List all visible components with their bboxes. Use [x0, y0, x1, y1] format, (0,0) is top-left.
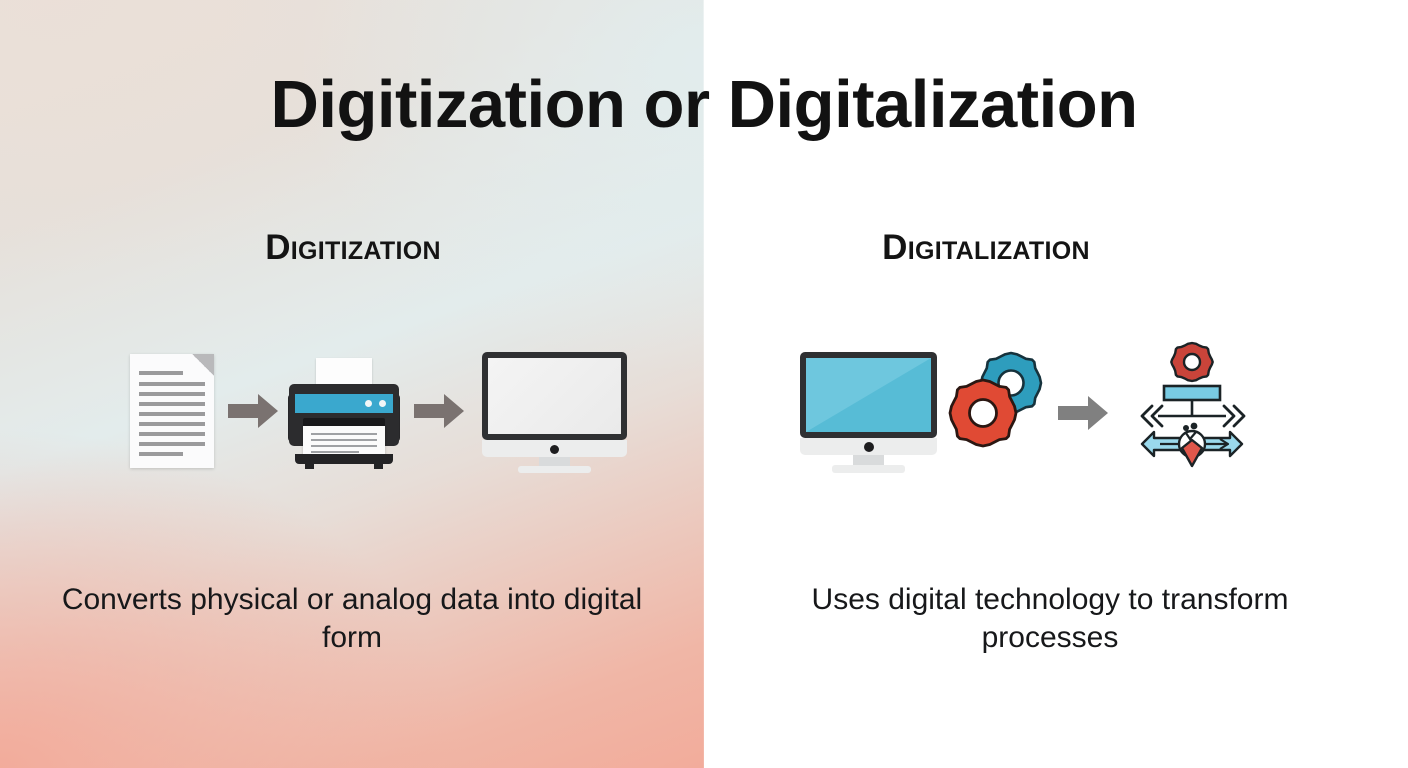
printer-indicator-dot: [379, 400, 386, 407]
chevron-right-icon: [1234, 406, 1244, 426]
document-text-line: [139, 382, 205, 386]
document-text-line: [139, 371, 183, 375]
document-text-line: [139, 432, 205, 436]
document-text-line: [139, 402, 205, 406]
monitor-bezel: [800, 352, 937, 438]
document-text-line: [139, 392, 205, 396]
monitor-bezel: [482, 352, 627, 440]
printed-line: [311, 433, 377, 435]
infographic-canvas: Digitization or Digitalization Digitizat…: [0, 0, 1408, 768]
printed-line: [311, 439, 377, 441]
process-bar: [1164, 386, 1220, 400]
caption-digitization: Converts physical or analog data into di…: [60, 581, 644, 658]
heading-digitization: Digitization: [1, 228, 705, 268]
caption-digitalization: Uses digital technology to transform pro…: [770, 581, 1330, 658]
monitor-screen: [488, 358, 621, 434]
heading-digitalization: Digitalization: [634, 228, 1338, 268]
document-text-line: [139, 452, 183, 456]
document-text-line: [139, 412, 205, 416]
printer-foot: [374, 462, 383, 469]
arrow-right-icon: [414, 394, 464, 428]
gears-icon: [945, 345, 1050, 450]
monitor-neck: [853, 455, 884, 465]
monitor-screen: [806, 358, 931, 432]
page-title: Digitization or Digitalization: [0, 66, 1408, 143]
monitor-icon: [482, 352, 627, 472]
monitor-icon: [800, 352, 937, 472]
document-icon: [130, 354, 214, 468]
process-transformation-icon: [1120, 340, 1265, 480]
document-fold-corner: [192, 354, 214, 376]
monitor-stand-foot: [832, 465, 905, 473]
monitor-logo-dot: [550, 445, 559, 454]
document-text-line: [139, 422, 205, 426]
printed-line: [311, 451, 359, 453]
process-gear: [1171, 343, 1212, 381]
printer-scanner-icon: [289, 358, 399, 468]
arrow-right-icon: [228, 394, 278, 428]
document-text-line: [139, 442, 205, 446]
monitor-neck: [539, 457, 570, 466]
chevron-left-icon: [1142, 406, 1152, 426]
monitor-logo-dot: [864, 442, 874, 452]
monitor-stand-foot: [518, 466, 591, 473]
printer-indicator-dot: [365, 400, 372, 407]
printer-foot: [305, 462, 314, 469]
arrow-right-icon: [1058, 396, 1108, 430]
gear-red: [950, 380, 1016, 446]
printed-line: [311, 445, 377, 447]
